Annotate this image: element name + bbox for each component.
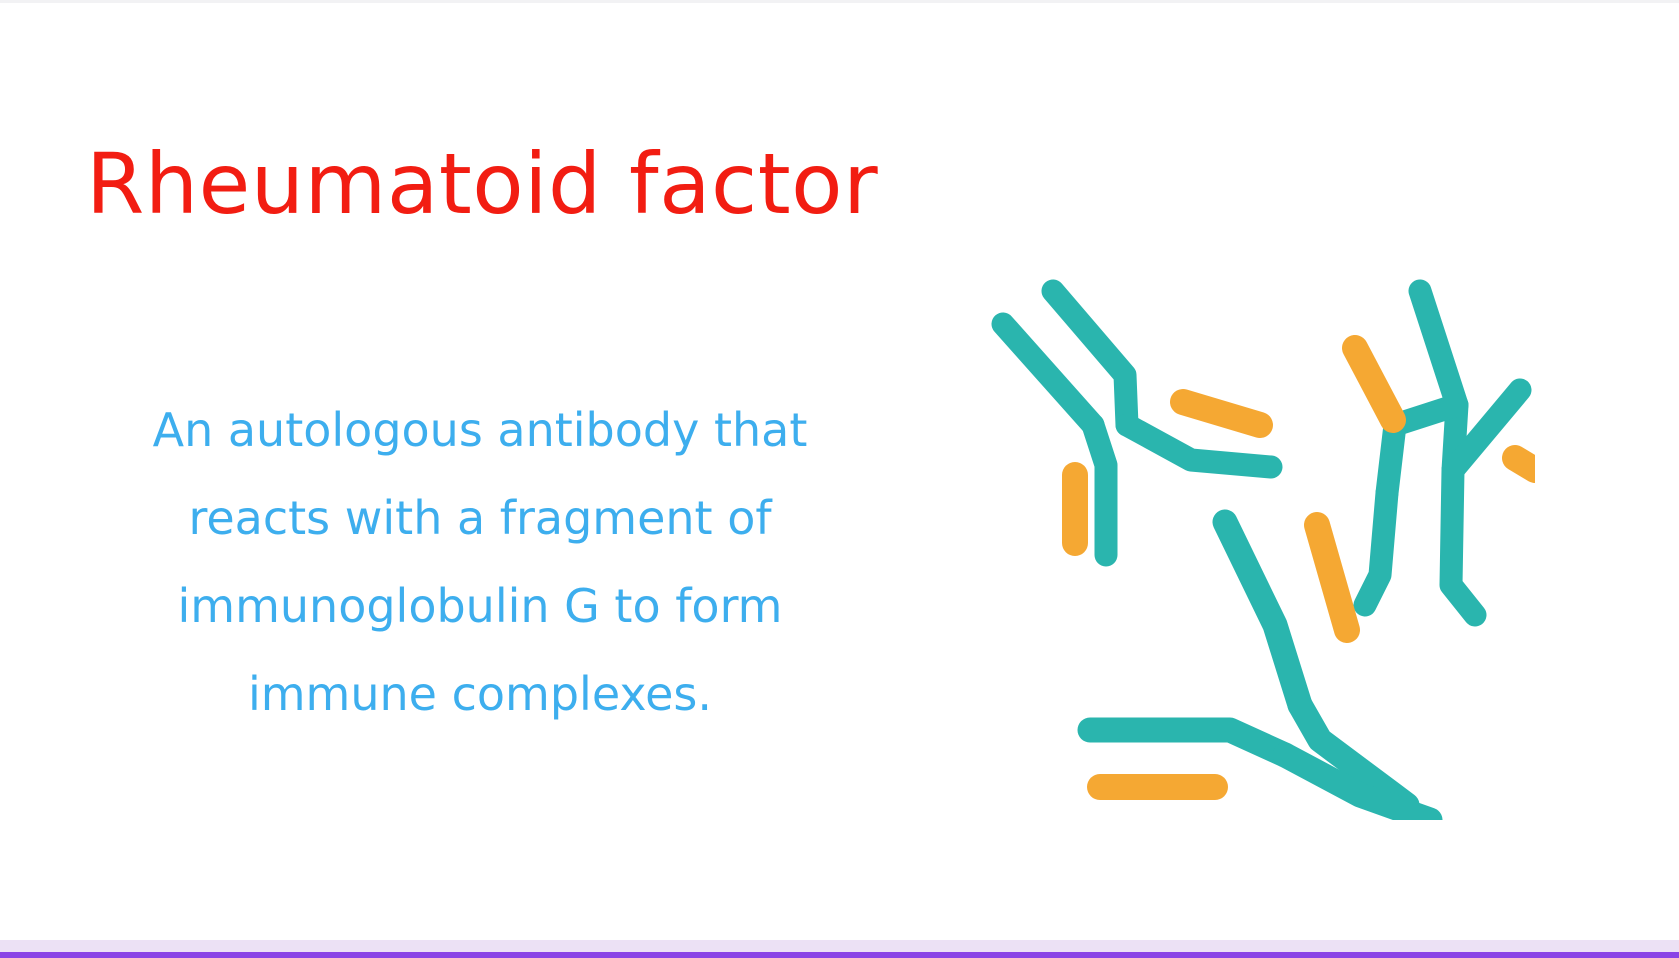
fragment-icon-1 [1183, 402, 1260, 425]
body-text-line-2: reacts with a fragment of [90, 474, 870, 562]
fragment-icon-3 [1515, 458, 1535, 470]
page-title: Rheumatoid factor [86, 140, 986, 228]
fragment-icon-5 [1317, 525, 1347, 630]
footer-accent-bar [0, 952, 1679, 958]
footer-band [0, 940, 1679, 952]
body-text-line-4: immune complexes. [90, 650, 870, 738]
fragment-icon-2 [1355, 348, 1393, 420]
antibody-cluster-illustration [975, 275, 1535, 820]
body-text-line-1: An autologous antibody that [90, 386, 870, 474]
body-text-block: An autologous antibody that reacts with … [90, 386, 870, 738]
top-hairline [0, 0, 1679, 3]
slide-canvas: Rheumatoid factor An autologous antibody… [0, 0, 1679, 958]
antibody-icon-2 [1365, 291, 1520, 615]
antibody-illustration-svg [975, 275, 1535, 820]
body-text-line-3: immunoglobulin G to form [90, 562, 870, 650]
